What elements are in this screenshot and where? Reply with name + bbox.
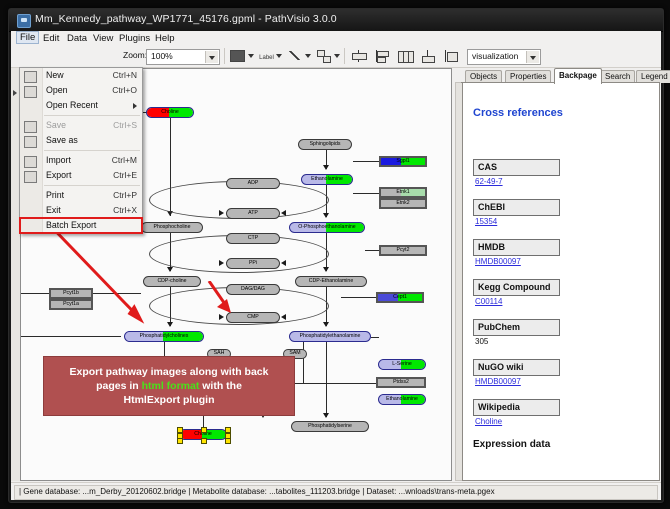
file-menu-item-exit[interactable]: ExitCtrl+X — [20, 203, 142, 218]
menu-item-label: Export — [46, 170, 71, 180]
file-menu-item-save: SaveCtrl+S — [20, 118, 142, 133]
chevron-down-icon[interactable] — [305, 54, 311, 58]
menu-edit[interactable]: Edit — [39, 32, 63, 45]
callout-highlight: html format — [142, 380, 200, 392]
menu-help[interactable]: Help — [151, 32, 179, 45]
chevron-down-icon[interactable] — [276, 54, 282, 58]
menu-view[interactable]: View — [89, 32, 117, 45]
xref-label-text: Wikipedia — [478, 402, 520, 412]
menu-bar: File Edit Data View Plugins Help — [11, 31, 661, 46]
menu-item-shortcut: Ctrl+X — [113, 203, 137, 218]
xref-value-pubchem: 305 — [475, 337, 488, 346]
menu-item-shortcut: Ctrl+E — [113, 168, 137, 183]
xref-label-hmdb: HMDB — [473, 239, 560, 256]
menu-item-label: Save as — [46, 135, 78, 145]
application-window: Mm_Kennedy_pathway_WP1771_45176.gpml - P… — [8, 8, 664, 503]
menu-item-label: Open — [46, 85, 68, 95]
menu-item-label: New — [46, 70, 64, 80]
line-tool[interactable] — [286, 48, 303, 64]
file-menu-item-save-as[interactable]: Save as — [20, 133, 142, 148]
xref-label-text: NuGO wiki — [478, 362, 524, 372]
toolbar-separator — [344, 48, 345, 64]
window-title: Mm_Kennedy_pathway_WP1771_45176.gpml - P… — [35, 13, 337, 25]
import-icon — [24, 156, 37, 168]
menu-item-shortcut: Ctrl+M — [112, 153, 137, 168]
export-icon — [24, 171, 37, 183]
menu-item-shortcut: Ctrl+N — [113, 68, 137, 83]
callout-line-2b: with the — [199, 380, 242, 392]
file-menu-item-new[interactable]: NewCtrl+N — [20, 68, 142, 83]
status-bar-panel: | Gene database: ...m_Derby_20120602.bri… — [14, 485, 658, 500]
menu-item-label: Open Recent — [46, 100, 98, 110]
xref-value-wikipedia[interactable]: Choline — [475, 417, 502, 426]
tab-backpage[interactable]: Backpage — [554, 68, 602, 84]
open-folder-icon — [24, 86, 37, 98]
dock-tab-strip: Objects Properties Backpage Search Legen… — [461, 68, 660, 83]
xref-value-hmdb[interactable]: HMDB00097 — [475, 257, 521, 266]
menu-separator — [44, 150, 140, 151]
visualization-combobox[interactable]: visualization — [467, 49, 541, 65]
xref-label-text: Kegg Compound — [478, 282, 551, 292]
gene-product-tool[interactable] — [229, 48, 246, 64]
zoom-label: Zoom: — [123, 50, 147, 60]
annotation-arrow-icon — [201, 281, 271, 321]
chevron-down-icon — [205, 51, 218, 63]
expression-data-title: Expression data — [473, 439, 550, 450]
file-menu-popup[interactable]: NewCtrl+NOpenCtrl+OOpen RecentSaveCtrl+S… — [19, 67, 143, 234]
zoom-value: 100% — [151, 51, 173, 61]
distribute-vertical-tool[interactable] — [419, 48, 436, 64]
file-menu-item-export[interactable]: ExportCtrl+E — [20, 168, 142, 183]
same-width-tool[interactable] — [442, 48, 459, 64]
menu-item-shortcut: Ctrl+P — [113, 188, 137, 203]
screenshot-root: Mm_Kennedy_pathway_WP1771_45176.gpml - P… — [0, 0, 670, 509]
menu-file[interactable]: File — [16, 31, 39, 44]
menu-item-label: Import — [46, 155, 71, 165]
menu-separator — [44, 115, 140, 116]
backpage-panel: Cross references CAS 62-49-7 ChEBI 15354… — [462, 83, 660, 481]
annotation-callout: Export pathway images along with back pa… — [43, 356, 295, 416]
status-bar-text: | Gene database: ...m_Derby_20120602.bri… — [19, 487, 495, 496]
distribute-horizontal-tool[interactable] — [396, 48, 413, 64]
menu-item-label: Save — [46, 120, 66, 130]
xref-label-text: CAS — [478, 162, 497, 172]
menu-item-label: Batch Export — [46, 220, 96, 230]
menu-plugins[interactable]: Plugins — [115, 32, 154, 45]
new-file-icon — [24, 71, 37, 83]
xref-label-text: PubChem — [478, 322, 520, 332]
xref-label-nugo-wiki: NuGO wiki — [473, 359, 560, 376]
xref-value-chebi[interactable]: 15354 — [475, 217, 497, 226]
visualization-value: visualization — [472, 51, 518, 61]
menu-item-shortcut: Ctrl+O — [112, 83, 137, 98]
align-left-tool[interactable] — [373, 48, 390, 64]
zoom-combobox[interactable]: 100% — [146, 49, 220, 65]
chevron-down-icon — [526, 51, 539, 63]
callout-line-3: HtmlExport plugin — [124, 394, 215, 406]
chevron-right-icon — [133, 103, 137, 109]
shape-tool[interactable] — [315, 48, 332, 64]
xref-value-nugo-wiki[interactable]: HMDB00097 — [475, 377, 521, 386]
menu-item-label: Exit — [46, 205, 61, 215]
callout-line-1: Export pathway images along with back — [70, 366, 269, 378]
save-icon — [24, 121, 37, 133]
align-center-tool[interactable] — [350, 48, 367, 64]
file-menu-item-print[interactable]: PrintCtrl+P — [20, 188, 142, 203]
save-as-icon — [24, 136, 37, 148]
title-bar: Mm_Kennedy_pathway_WP1771_45176.gpml - P… — [9, 9, 663, 32]
label-tool[interactable]: Label — [258, 48, 275, 64]
callout-line-2a: pages in — [96, 380, 142, 392]
xref-label-wikipedia: Wikipedia — [473, 399, 560, 416]
file-menu-item-import[interactable]: ImportCtrl+M — [20, 153, 142, 168]
xref-label-kegg-compound: Kegg Compound — [473, 279, 560, 296]
xref-value-kegg-compound[interactable]: C00114 — [475, 297, 502, 306]
menu-item-label: Print — [46, 190, 64, 200]
menu-data[interactable]: Data — [63, 32, 91, 45]
file-menu-item-open-recent[interactable]: Open Recent — [20, 98, 142, 113]
file-menu-item-batch-export[interactable]: Batch Export — [20, 218, 142, 233]
toolbar: Zoom: 100% Label — [11, 45, 661, 68]
menu-separator — [44, 185, 140, 186]
file-menu-item-open[interactable]: OpenCtrl+O — [20, 83, 142, 98]
xref-label-cas: CAS — [473, 159, 560, 176]
xref-value-cas[interactable]: 62-49-7 — [475, 177, 503, 186]
cross-references-title: Cross references — [473, 107, 563, 119]
label-tool-caption: Label — [258, 55, 275, 61]
right-dock: Objects Properties Backpage Search Legen… — [455, 68, 660, 481]
xref-label-text: HMDB — [478, 242, 505, 252]
toolbar-separator — [224, 48, 225, 64]
chevron-down-icon[interactable] — [248, 54, 254, 58]
xref-label-pubchem: PubChem — [473, 319, 560, 336]
xref-label-chebi: ChEBI — [473, 199, 560, 216]
menu-item-shortcut: Ctrl+S — [113, 118, 137, 133]
window-client-area: File Edit Data View Plugins Help Zoom: 1… — [11, 31, 661, 500]
xref-label-text: ChEBI — [478, 202, 505, 212]
app-icon — [17, 14, 31, 28]
chevron-down-icon[interactable] — [334, 54, 340, 58]
status-bar: | Gene database: ...m_Derby_20120602.bri… — [11, 482, 661, 500]
